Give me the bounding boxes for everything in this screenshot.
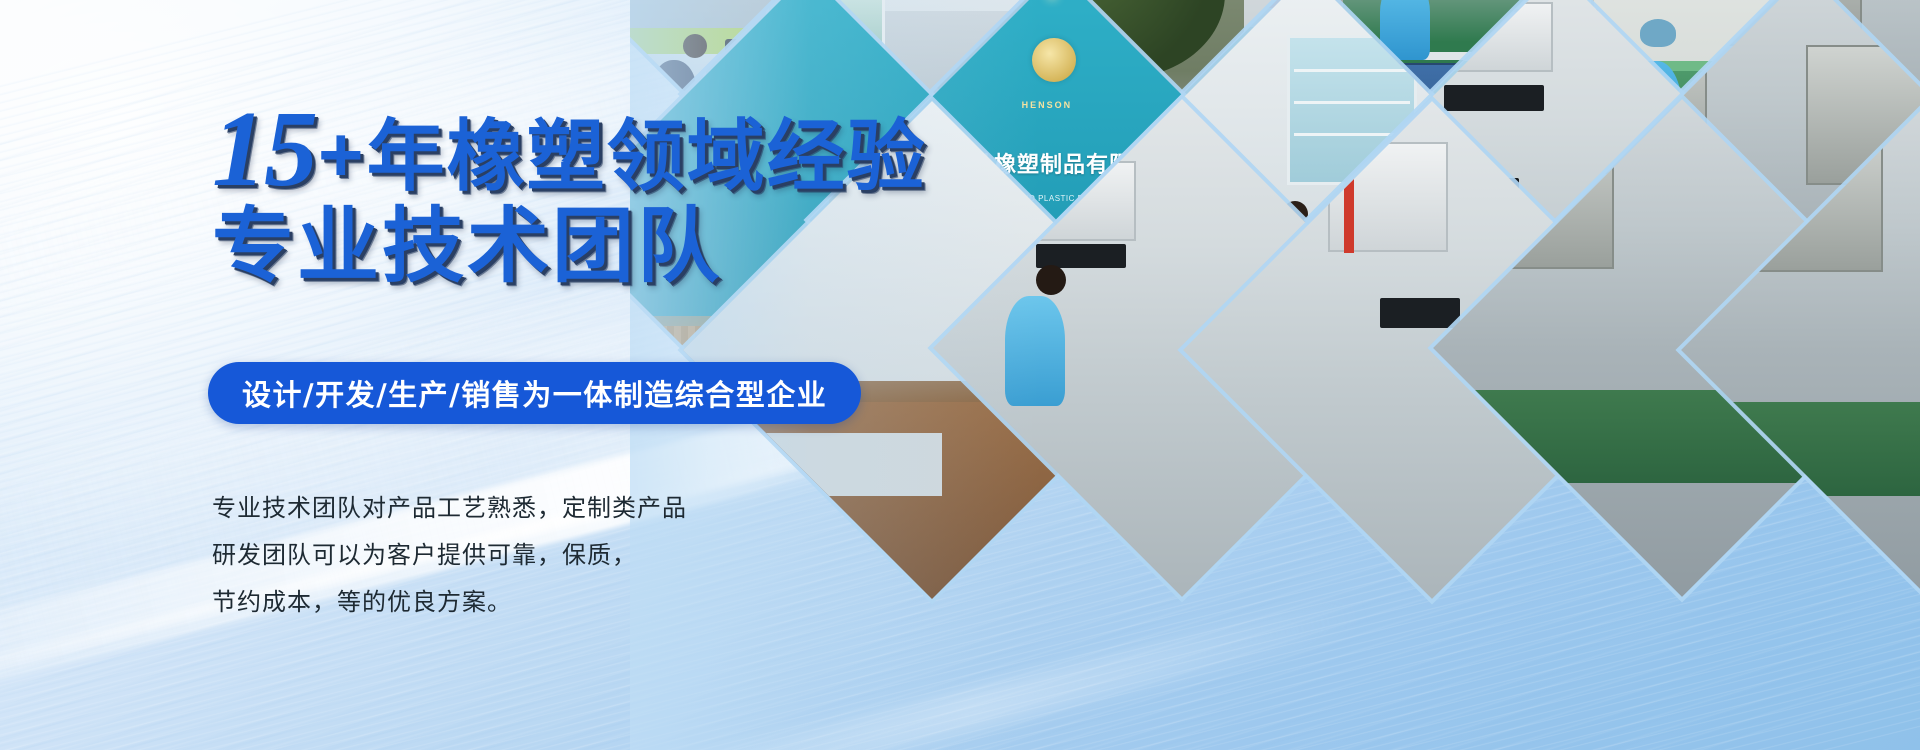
body-copy: 专业技术团队对产品工艺熟悉，定制类产品 研发团队可以为客户提供可靠，保质， 节约… <box>212 485 687 626</box>
body-copy-line-3: 节约成本，等的优良方案。 <box>212 579 687 626</box>
headline-line-2: 专业技术团队 <box>212 206 722 288</box>
tagline-pill-label: 设计/开发/生产/销售为一体制造综合型企业 <box>242 372 827 414</box>
headline-line-1-text: 年橡塑领域经验 <box>367 112 927 202</box>
promo-banner: HENSON 厦门汉升橡塑制品有限公司 XIAMEN HENSON RUBBER… <box>0 0 1920 750</box>
tagline-pill: 设计/开发/生产/销售为一体制造综合型企业 <box>208 362 861 424</box>
body-copy-line-2: 研发团队可以为客户提供可靠，保质， <box>212 532 687 579</box>
plus-sign: + <box>318 110 365 198</box>
headline-line-1: 15+年橡塑领域经验 <box>212 96 927 204</box>
text-content: 15+年橡塑领域经验 专业技术团队 设计/开发/生产/销售为一体制造综合型企业 … <box>0 0 940 750</box>
years-number: 15 <box>212 90 316 209</box>
headline-line-2-text: 专业技术团队 <box>212 199 722 294</box>
company-logo-text: HENSON <box>1022 100 1073 110</box>
body-copy-line-1: 专业技术团队对产品工艺熟悉，定制类产品 <box>212 485 687 532</box>
